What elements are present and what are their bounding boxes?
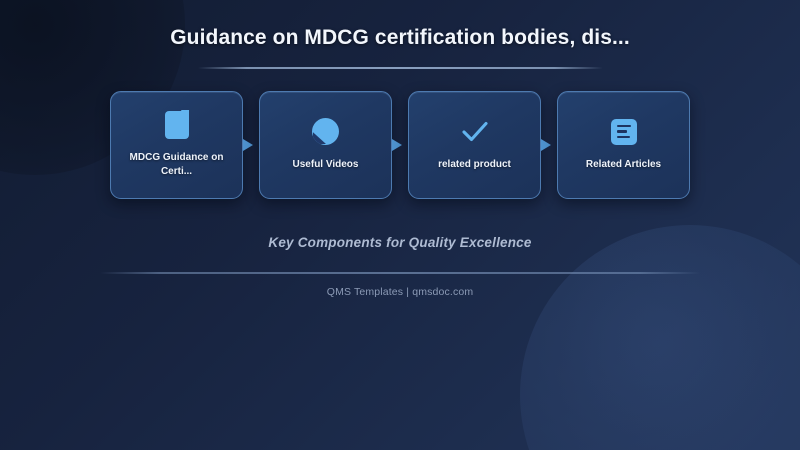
- footer-attribution: QMS Templates | qmsdoc.com: [327, 286, 473, 298]
- page-title: Guidance on MDCG certification bodies, d…: [170, 26, 630, 50]
- circle-slice-icon: [312, 117, 339, 147]
- arrow-right-icon: [391, 138, 407, 152]
- check-icon: [460, 117, 490, 147]
- card-row: MDCG Guidance on Certi... Useful Videos: [110, 91, 690, 199]
- card-item[interactable]: MDCG Guidance on Certi...: [110, 91, 243, 199]
- card-label: Related Articles: [586, 158, 661, 172]
- footer-divider: [100, 272, 700, 274]
- card-item[interactable]: Related Articles: [557, 91, 690, 199]
- slide-canvas: Guidance on MDCG certification bodies, d…: [0, 0, 800, 450]
- title-divider: [198, 67, 603, 69]
- document-icon: [165, 110, 189, 140]
- arrow-right-icon: [242, 138, 258, 152]
- arrow-right-icon: [540, 138, 556, 152]
- slide-subtitle: Key Components for Quality Excellence: [268, 235, 531, 250]
- card-label: Useful Videos: [293, 158, 359, 172]
- card-item[interactable]: related product: [408, 91, 541, 199]
- slide-content: Guidance on MDCG certification bodies, d…: [0, 0, 800, 450]
- card-label: MDCG Guidance on Certi...: [120, 151, 233, 179]
- card-item[interactable]: Useful Videos: [259, 91, 392, 199]
- card-label: related product: [438, 158, 511, 172]
- list-lines-icon: [611, 117, 637, 147]
